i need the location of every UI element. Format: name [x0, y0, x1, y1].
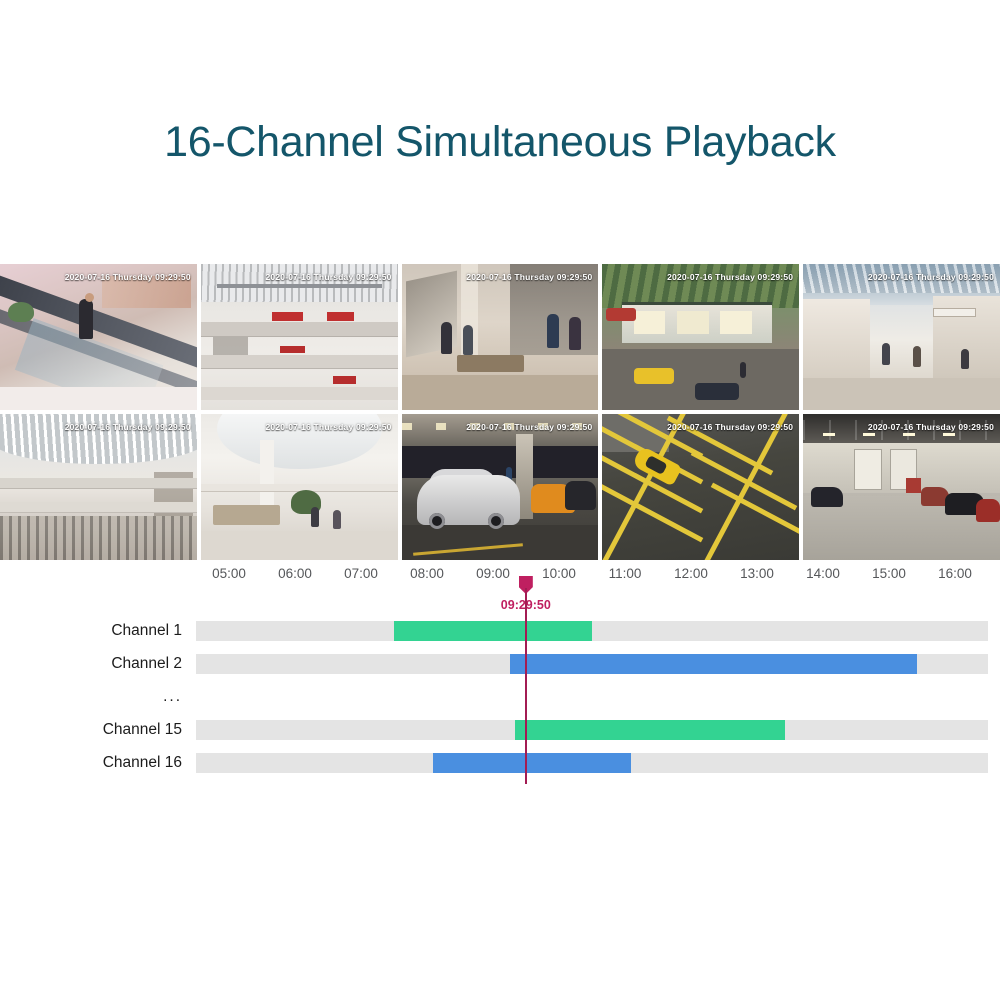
recording-segment[interactable]	[394, 621, 592, 641]
channel-row: Channel 2	[0, 647, 1000, 680]
camera-scene-10	[803, 414, 1000, 560]
camera-scene-7	[201, 414, 398, 560]
camera-scene-8	[402, 414, 599, 560]
timeline-tick: 14:00	[806, 566, 840, 581]
channel-label: Channel 15	[0, 721, 182, 739]
camera-timestamp: 2020-07-16 Thursday 09:29:50	[402, 422, 593, 432]
page-title: 16-Channel Simultaneous Playback	[0, 118, 1000, 167]
channel-rows: Channel 1Channel 2...Channel 15Channel 1…	[0, 614, 1000, 779]
timeline-tick: 12:00	[674, 566, 708, 581]
channel-track[interactable]	[196, 720, 988, 740]
channel-row: Channel 15	[0, 713, 1000, 746]
timeline-tick: 07:00	[344, 566, 378, 581]
camera-timestamp: 2020-07-16 Thursday 09:29:50	[0, 422, 191, 432]
recording-segment[interactable]	[515, 720, 785, 740]
channel-ellipsis-label: ...	[0, 688, 182, 706]
camera-cell-7[interactable]: 2020-07-16 Thursday 09:29:50	[201, 414, 398, 560]
recording-segment[interactable]	[433, 753, 631, 773]
camera-timestamp: 2020-07-16 Thursday 09:29:50	[803, 272, 994, 282]
video-wall: 2020-07-16 Thursday 09:29:50 2020-07-16 …	[0, 264, 1000, 560]
timeline-tick: 08:00	[410, 566, 444, 581]
timeline-tick: 10:00	[542, 566, 576, 581]
channel-label: Channel 1	[0, 622, 182, 640]
camera-timestamp: 2020-07-16 Thursday 09:29:50	[201, 272, 392, 282]
camera-cell-6[interactable]: 2020-07-16 Thursday 09:29:50	[0, 414, 197, 560]
camera-scene-4	[602, 264, 799, 410]
channel-label: Channel 2	[0, 655, 182, 673]
camera-scene-2	[201, 264, 398, 410]
camera-timestamp: 2020-07-16 Thursday 09:29:50	[602, 422, 793, 432]
timeline-tick: 13:00	[740, 566, 774, 581]
camera-scene-6	[0, 414, 197, 560]
camera-timestamp: 2020-07-16 Thursday 09:29:50	[201, 422, 392, 432]
camera-cell-9[interactable]: 2020-07-16 Thursday 09:29:50	[602, 414, 799, 560]
channel-label: Channel 16	[0, 754, 182, 772]
camera-cell-5[interactable]: 2020-07-16 Thursday 09:29:50	[803, 264, 1000, 410]
timeline-tick: 15:00	[872, 566, 906, 581]
timeline-tick: 05:00	[212, 566, 246, 581]
camera-timestamp: 2020-07-16 Thursday 09:29:50	[602, 272, 793, 282]
timeline-ruler[interactable]: 05:0006:0007:0008:0009:0010:0011:0012:00…	[0, 566, 1000, 594]
playback-timeline[interactable]: 05:0006:0007:0008:0009:0010:0011:0012:00…	[0, 566, 1000, 786]
timeline-tick: 06:00	[278, 566, 312, 581]
camera-timestamp: 2020-07-16 Thursday 09:29:50	[803, 422, 994, 432]
channel-track[interactable]	[196, 621, 988, 641]
camera-cell-1[interactable]: 2020-07-16 Thursday 09:29:50	[0, 264, 197, 410]
camera-scene-9	[602, 414, 799, 560]
channel-track[interactable]	[196, 654, 988, 674]
timeline-tick: 11:00	[609, 566, 642, 581]
channel-row: ...	[0, 680, 1000, 713]
timeline-tick: 16:00	[938, 566, 972, 581]
camera-timestamp: 2020-07-16 Thursday 09:29:50	[0, 272, 191, 282]
camera-timestamp: 2020-07-16 Thursday 09:29:50	[402, 272, 593, 282]
camera-cell-4[interactable]: 2020-07-16 Thursday 09:29:50	[602, 264, 799, 410]
camera-scene-5	[803, 264, 1000, 410]
playhead-line	[525, 588, 527, 784]
timeline-tick: 09:00	[476, 566, 510, 581]
camera-scene-3	[402, 264, 599, 410]
camera-cell-10[interactable]: 2020-07-16 Thursday 09:29:50	[803, 414, 1000, 560]
channel-row: Channel 1	[0, 614, 1000, 647]
recording-segment[interactable]	[510, 654, 917, 674]
camera-scene-1	[0, 264, 197, 410]
channel-row: Channel 16	[0, 746, 1000, 779]
camera-cell-2[interactable]: 2020-07-16 Thursday 09:29:50	[201, 264, 398, 410]
channel-track[interactable]	[196, 753, 988, 773]
camera-cell-8-selected[interactable]: 2020-07-16 Thursday 09:29:50	[402, 414, 599, 560]
camera-cell-3[interactable]: 2020-07-16 Thursday 09:29:50	[402, 264, 599, 410]
